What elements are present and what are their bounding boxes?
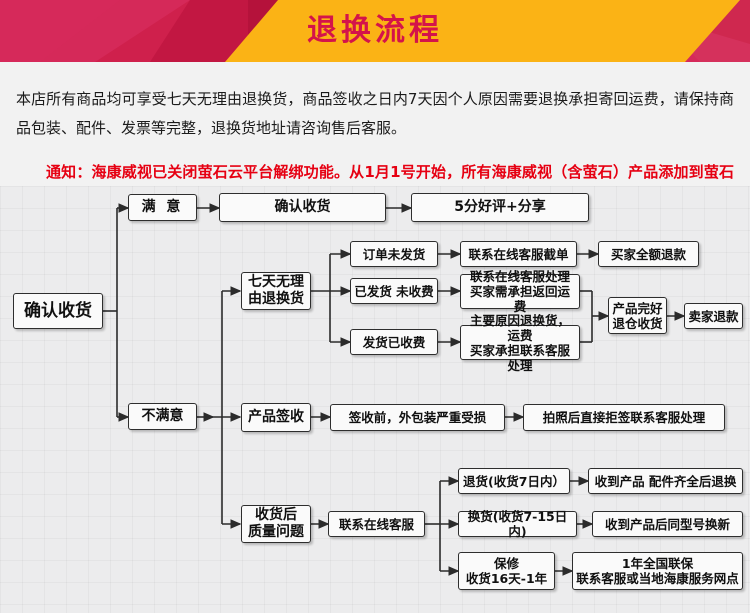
- node-product-intact-return-warehouse[interactable]: 产品完好 退仓收货: [608, 297, 667, 334]
- node-buyer-full-refund[interactable]: 买家全额退款: [598, 241, 699, 267]
- node-five-star-review[interactable]: 5分好评+分享: [411, 193, 589, 222]
- node-shipped-unpaid[interactable]: 已发货 未收费: [350, 278, 438, 304]
- node-same-model-replacement[interactable]: 收到产品后同型号换新: [592, 511, 743, 537]
- node-return-after-accessories-complete[interactable]: 收到产品 配件齐全后退换: [588, 468, 743, 494]
- node-confirm-receipt[interactable]: 确认收货: [219, 193, 386, 222]
- node-photo-reject-contact-service[interactable]: 拍照后直接拒签联系客服处理: [523, 404, 725, 431]
- node-unsatisfied[interactable]: 不满意: [128, 403, 197, 430]
- return-exchange-process-page: 退换流程 本店所有商品均可享受七天无理由退换货，商品签收之日内7天因个人原因需要…: [0, 0, 750, 613]
- node-satisfied[interactable]: 满 意: [128, 194, 197, 221]
- return-flowchart: 确认收货 满 意 确认收货 5分好评+分享 七天无理 由退换货 订单未发货 已发…: [0, 186, 750, 613]
- node-shipped-paid[interactable]: 发货已收费: [350, 329, 438, 355]
- node-seven-day-return[interactable]: 七天无理 由退换货: [241, 272, 311, 310]
- node-one-year-national-warranty[interactable]: 1年全国联保 联系客服或当地海康服务网点: [572, 552, 743, 590]
- banner-title: 退换流程: [0, 0, 750, 62]
- page-banner: 退换流程: [0, 0, 750, 62]
- node-order-not-shipped[interactable]: 订单未发货: [350, 241, 438, 267]
- node-product-signed[interactable]: 产品签收: [241, 403, 311, 432]
- node-warranty-16days-1year[interactable]: 保修 收货16天-1年: [458, 552, 555, 590]
- notice-paragraph-policy: 本店所有商品均可享受七天无理由退换货，商品签收之日内7天因个人原因需要退换承担寄…: [0, 85, 750, 143]
- node-contact-online-service[interactable]: 联系在线客服: [328, 511, 425, 537]
- node-after-receipt-quality-issue[interactable]: 收货后 质量问题: [241, 505, 311, 543]
- node-seller-refund[interactable]: 卖家退款: [684, 303, 743, 329]
- node-contact-service-return-fee[interactable]: 联系在线客服处理 买家需承担返回运费: [460, 274, 580, 309]
- node-root-confirm-receipt[interactable]: 确认收货: [13, 293, 103, 329]
- node-contact-service-intercept[interactable]: 联系在线客服截单: [460, 241, 577, 267]
- node-package-severely-damaged[interactable]: 签收前，外包装严重受损: [330, 404, 505, 431]
- node-exchange-7-15-days[interactable]: 换货(收货7-15日内): [458, 511, 577, 537]
- node-main-reason-return[interactable]: 主要原因退换货，运费 买家承担联系客服处理: [460, 325, 580, 360]
- node-return-within-7-days[interactable]: 退货(收货7日内）: [458, 468, 570, 494]
